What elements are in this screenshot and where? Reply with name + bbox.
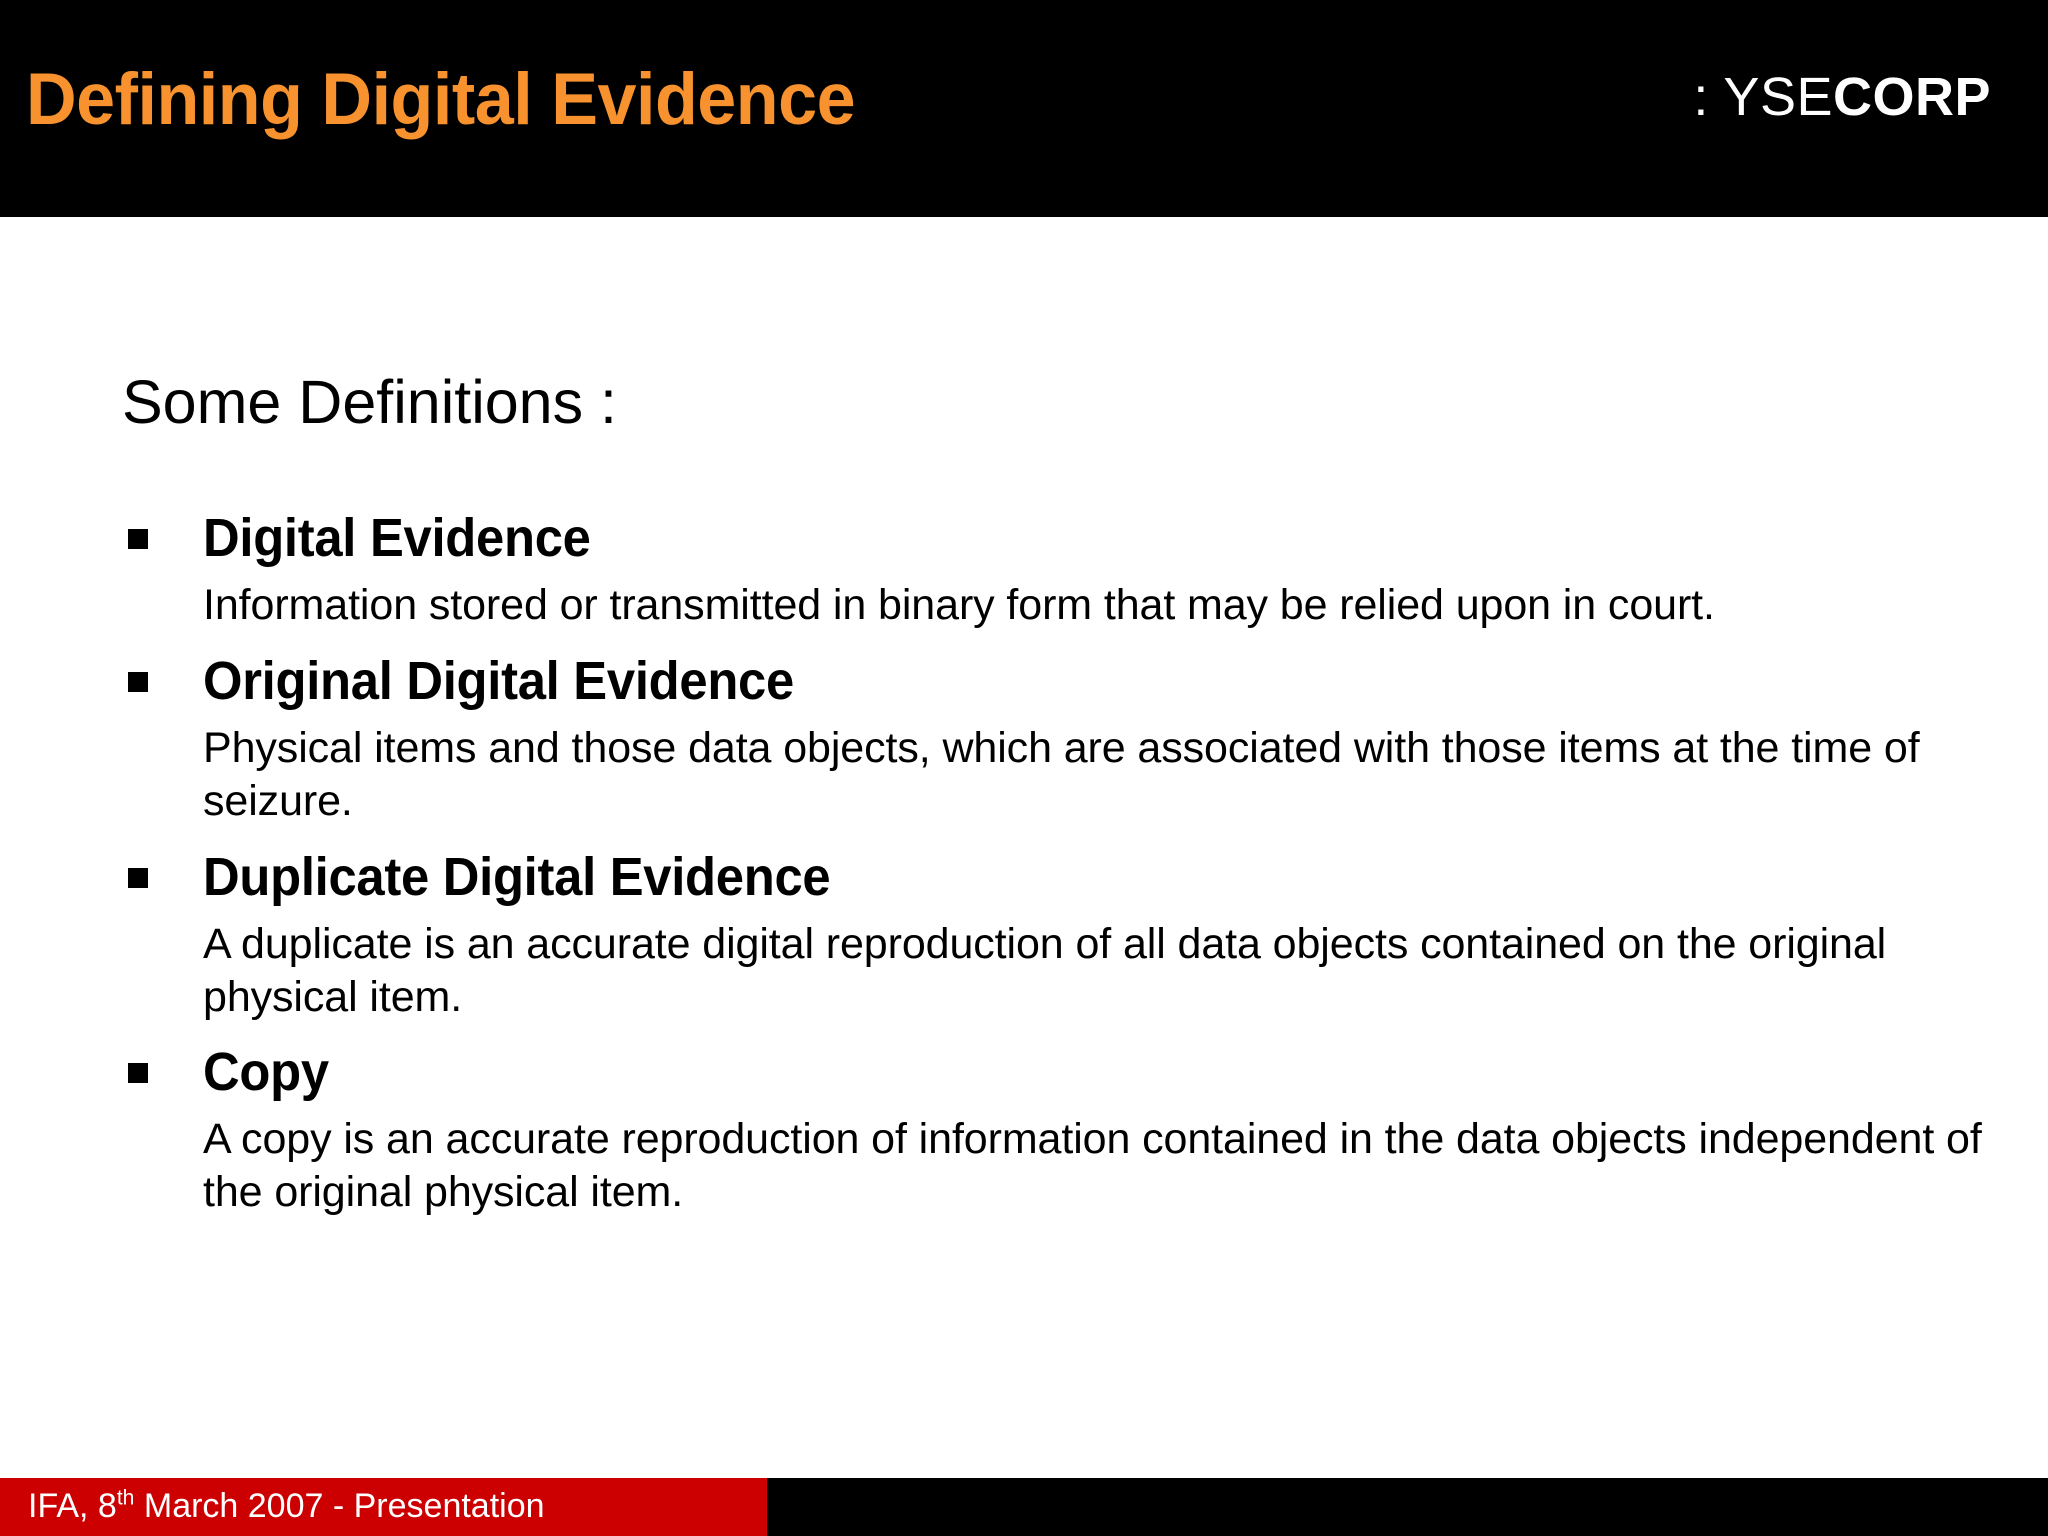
definition-term-row: Duplicate Digital Evidence: [128, 846, 1988, 912]
definition-body: A duplicate is an accurate digital repro…: [203, 918, 2003, 1024]
list-item: Digital Evidence Information stored or t…: [128, 507, 1988, 632]
brand-logo: : YSECORP: [1693, 66, 1991, 128]
definition-term: Copy: [203, 1041, 1881, 1104]
definition-body: Physical items and those data objects, w…: [203, 722, 2003, 828]
footer-text-prefix: IFA, 8: [28, 1487, 117, 1525]
definition-term-row: Digital Evidence: [128, 507, 1988, 573]
definition-body: Information stored or transmitted in bin…: [203, 579, 2003, 632]
square-bullet-icon: [128, 672, 148, 692]
slide-content: Some Definitions : Digital Evidence Info…: [0, 217, 2048, 1478]
list-item: Copy A copy is an accurate reproduction …: [128, 1041, 1988, 1219]
footer-text-rest: March 2007 - Presentation: [134, 1487, 544, 1525]
footer-ordinal-suffix: th: [117, 1487, 135, 1510]
square-bullet-icon: [128, 529, 148, 549]
list-item: Duplicate Digital Evidence A duplicate i…: [128, 846, 1988, 1024]
definition-term-row: Copy: [128, 1041, 1988, 1107]
slide-header-bar: Defining Digital Evidence : YSECORP: [0, 0, 2048, 217]
slide-footer-bar: IFA, 8th March 2007 - Presentation: [0, 1478, 2048, 1536]
definition-term: Digital Evidence: [203, 507, 1881, 570]
definition-term: Duplicate Digital Evidence: [203, 846, 1881, 909]
section-heading: Some Definitions :: [122, 367, 617, 437]
presentation-slide: Defining Digital Evidence : YSECORP Some…: [0, 0, 2048, 1536]
definition-list: Digital Evidence Information stored or t…: [128, 507, 1988, 1237]
definition-term: Original Digital Evidence: [203, 650, 1881, 713]
footer-text: IFA, 8th March 2007 - Presentation: [28, 1487, 545, 1526]
square-bullet-icon: [128, 868, 148, 888]
square-bullet-icon: [128, 1063, 148, 1083]
list-item: Original Digital Evidence Physical items…: [128, 650, 1988, 828]
page-title: Defining Digital Evidence: [26, 58, 855, 141]
brand-logo-suffix: CORP: [1833, 67, 1991, 127]
definition-term-row: Original Digital Evidence: [128, 650, 1988, 716]
brand-logo-prefix: : YSE: [1693, 67, 1833, 127]
definition-body: A copy is an accurate reproduction of in…: [203, 1113, 2003, 1219]
